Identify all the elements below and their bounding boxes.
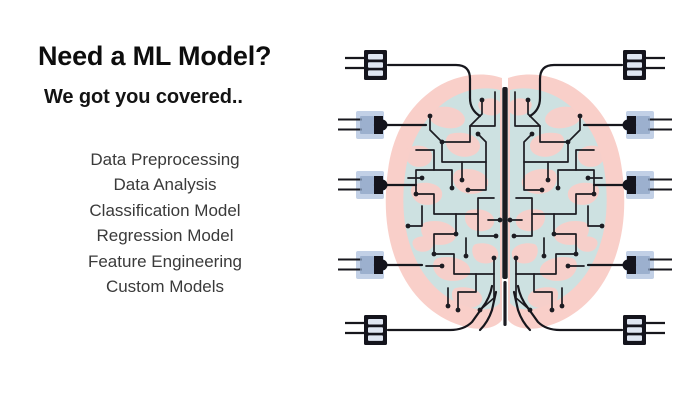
connector-top-right[interactable] [623,50,665,80]
circuit-brain-illustration [330,30,680,375]
list-item: Feature Engineering [20,249,310,274]
central-fissure [502,87,507,279]
connector-bottom-right[interactable] [623,315,665,345]
slide-canvas: Need a ML Model? We got you covered.. Da… [0,0,680,409]
page-title: Need a ML Model? [38,41,271,72]
list-item: Custom Models [20,274,310,299]
connector-right-3[interactable] [623,251,673,279]
connector-top-left[interactable] [345,50,387,80]
list-item: Classification Model [20,198,310,223]
brain-body [386,74,625,328]
service-list: Data Preprocessing Data Analysis Classif… [20,147,310,299]
connector-right-2[interactable] [623,171,673,199]
text-panel: Need a ML Model? We got you covered.. Da… [0,0,330,409]
list-item: Data Analysis [20,172,310,197]
central-fissure-lower [503,281,506,326]
connector-bottom-left[interactable] [345,315,387,345]
list-item: Data Preprocessing [20,147,310,172]
page-subtitle: We got you covered.. [44,86,243,109]
circuit-brain-graphic [330,30,680,375]
connector-right-1[interactable] [623,111,673,139]
connector-left-2[interactable] [338,171,388,199]
list-item: Regression Model [20,223,310,248]
connector-left-1[interactable] [338,111,388,139]
connector-left-3[interactable] [338,251,388,279]
